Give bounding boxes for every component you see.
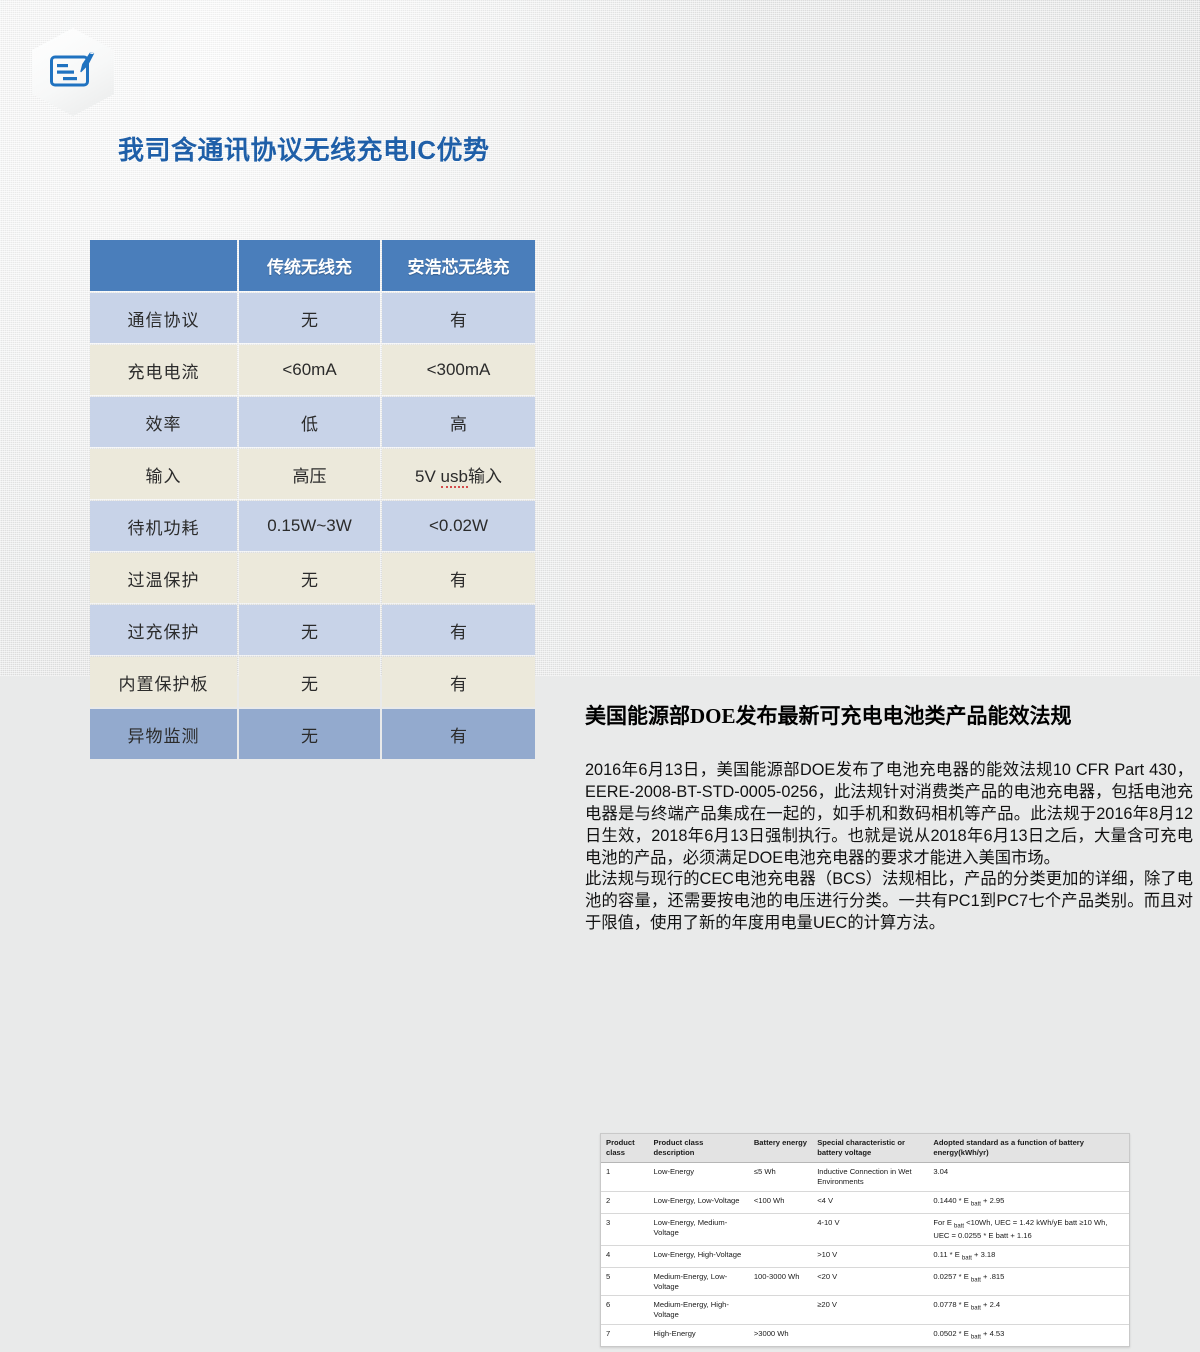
cell-anhaoxin: <0.02W [382, 501, 535, 551]
doe-col-special-char: Special characteristic or battery voltag… [812, 1134, 928, 1163]
row-label: 过充保护 [90, 605, 237, 655]
std-pre: 0.1440 * E [933, 1196, 971, 1205]
std-pre: 0.0257 * E [933, 1272, 971, 1281]
table-row: 充电电流 <60mA <300mA [90, 345, 535, 395]
page-title: 我司含通讯协议无线充电IC优势 [118, 130, 1200, 167]
cell-anhaoxin-prefix: 5V [415, 467, 441, 486]
doe-cell-spec: ≥20 V [812, 1296, 928, 1324]
std-post: + 3.18 [972, 1250, 995, 1259]
table-row: 通信协议 无 有 [90, 293, 535, 343]
cell-anhaoxin: <300mA [382, 345, 535, 395]
std-sub: batt [971, 1201, 981, 1207]
doe-cell-class: 1 [601, 1163, 649, 1191]
std-sub: batt [971, 1334, 981, 1340]
doe-cell-spec: 4-10 V [812, 1213, 928, 1245]
std-post: + .815 [981, 1272, 1004, 1281]
doe-cell-desc: Low-Energy, Medium-Voltage [649, 1213, 749, 1245]
row-label: 效率 [90, 397, 237, 447]
doe-cell-standard: 0.0257 * E batt + .815 [928, 1268, 1129, 1296]
table-row: 过温保护 无 有 [90, 553, 535, 603]
std-post: + 4.53 [981, 1329, 1004, 1338]
doe-cell-desc: Medium-Energy, High-Voltage [649, 1296, 749, 1324]
std-sub: batt [954, 1223, 964, 1229]
table-row: 过充保护 无 有 [90, 605, 535, 655]
doe-cell-energy: 100-3000 Wh [749, 1268, 812, 1296]
cell-traditional: 无 [239, 709, 380, 759]
doe-cell-desc: High-Energy [649, 1324, 749, 1346]
row-label: 内置保护板 [90, 657, 237, 707]
col-header-anhaoxin: 安浩芯无线充 [382, 240, 535, 291]
cell-traditional: 高压 [239, 449, 380, 499]
std-pre: For E [933, 1218, 954, 1227]
table-row: 内置保护板 无 有 [90, 657, 535, 707]
doe-row: 6 Medium-Energy, High-Voltage ≥20 V 0.07… [601, 1296, 1129, 1324]
std-sub: batt [971, 1278, 981, 1284]
article-heading: 美国能源部DOE发布最新可充电电池类产品能效法规 [585, 703, 1193, 729]
doe-cell-energy: <100 Wh [749, 1191, 812, 1213]
std-pre: 0.11 * E [933, 1250, 962, 1259]
doe-cell-energy [749, 1296, 812, 1324]
doe-col-adopted-standard: Adopted standard as a function of batter… [928, 1134, 1129, 1163]
doe-cell-class: 6 [601, 1296, 649, 1324]
cell-traditional: 无 [239, 605, 380, 655]
cell-traditional: 0.15W~3W [239, 501, 380, 551]
cell-anhaoxin: 高 [382, 397, 535, 447]
table-row: 输入 高压 5V usb输入 [90, 449, 535, 499]
document-pen-icon [49, 50, 97, 94]
doe-cell-desc: Medium-Energy, Low-Voltage [649, 1268, 749, 1296]
std-pre: 0.0778 * E [933, 1300, 971, 1309]
doe-row: 5 Medium-Energy, Low-Voltage 100-3000 Wh… [601, 1268, 1129, 1296]
col-header-blank [90, 240, 237, 291]
row-label: 通信协议 [90, 293, 237, 343]
cell-traditional: <60mA [239, 345, 380, 395]
std-post: + 2.4 [981, 1300, 1000, 1309]
doe-col-product-class: Product class [601, 1134, 649, 1163]
cell-anhaoxin: 有 [382, 605, 535, 655]
doe-cell-standard: 0.0502 * E batt + 4.53 [928, 1324, 1129, 1346]
doe-row: 4 Low-Energy, High-Voltage >10 V 0.11 * … [601, 1245, 1129, 1267]
doe-cell-spec [812, 1324, 928, 1346]
cell-anhaoxin-misspelled: usb [441, 467, 468, 488]
article-paragraph-2: 此法规与现行的CEC电池充电器（BCS）法规相比，产品的分类更加的详细，除了电池… [585, 869, 1193, 934]
cell-anhaoxin: 有 [382, 293, 535, 343]
doe-cell-class: 7 [601, 1324, 649, 1346]
doe-cell-spec: <4 V [812, 1191, 928, 1213]
doe-cell-class: 3 [601, 1213, 649, 1245]
doe-header-row: Product class Product class description … [601, 1134, 1129, 1163]
doe-row: 1 Low-Energy ≤5 Wh Inductive Connection … [601, 1163, 1129, 1191]
article-body: 2016年6月13日，美国能源部DOE发布了电池充电器的能效法规10 CFR P… [585, 760, 1193, 935]
std-sub: batt [971, 1306, 981, 1312]
doe-cell-standard: 3.04 [928, 1163, 1129, 1191]
doe-cell-standard: 0.1440 * E batt + 2.95 [928, 1191, 1129, 1213]
cell-anhaoxin: 有 [382, 657, 535, 707]
doe-cell-standard: For E batt <10Wh, UEC = 1.42 kWh/yE batt… [928, 1213, 1129, 1245]
doe-cell-standard: 0.0778 * E batt + 2.4 [928, 1296, 1129, 1324]
doe-col-description: Product class description [649, 1134, 749, 1163]
table-row: 异物监测 无 有 [90, 709, 535, 759]
row-label: 过温保护 [90, 553, 237, 603]
doe-row: 2 Low-Energy, Low-Voltage <100 Wh <4 V 0… [601, 1191, 1129, 1213]
article-paragraph-1: 2016年6月13日，美国能源部DOE发布了电池充电器的能效法规10 CFR P… [585, 760, 1193, 869]
row-label: 待机功耗 [90, 501, 237, 551]
std-pre: 0.0502 * E [933, 1329, 971, 1338]
doe-cell-energy [749, 1245, 812, 1267]
std-post: + 2.95 [981, 1196, 1004, 1205]
doe-cell-standard: 0.11 * E batt + 3.18 [928, 1245, 1129, 1267]
cell-anhaoxin: 5V usb输入 [382, 449, 535, 499]
doe-cell-desc: Low-Energy, Low-Voltage [649, 1191, 749, 1213]
col-header-traditional: 传统无线充 [239, 240, 380, 291]
cell-traditional: 无 [239, 293, 380, 343]
cell-traditional: 低 [239, 397, 380, 447]
cell-anhaoxin: 有 [382, 553, 535, 603]
doe-row: 3 Low-Energy, Medium-Voltage 4-10 V For … [601, 1213, 1129, 1245]
doe-cell-energy: >3000 Wh [749, 1324, 812, 1346]
doe-row: 7 High-Energy >3000 Wh 0.0502 * E batt +… [601, 1324, 1129, 1346]
row-label: 异物监测 [90, 709, 237, 759]
doe-cell-class: 2 [601, 1191, 649, 1213]
doe-cell-class: 5 [601, 1268, 649, 1296]
std-pre: 3.04 [933, 1167, 948, 1176]
doe-cell-spec: Inductive Connection in Wet Environments [812, 1163, 928, 1191]
doe-cell-energy [749, 1213, 812, 1245]
table-header-row: 传统无线充 安浩芯无线充 [90, 240, 535, 291]
cell-anhaoxin-suffix: 输入 [468, 467, 502, 486]
doe-cell-desc: Low-Energy, High-Voltage [649, 1245, 749, 1267]
title-badge [32, 28, 114, 116]
cell-anhaoxin: 有 [382, 709, 535, 759]
doe-cell-spec: >10 V [812, 1245, 928, 1267]
row-label: 输入 [90, 449, 237, 499]
doe-cell-class: 4 [601, 1245, 649, 1267]
doe-cell-energy: ≤5 Wh [749, 1163, 812, 1191]
doe-regulation-table: Product class Product class description … [600, 1133, 1130, 1347]
doe-cell-spec: <20 V [812, 1268, 928, 1296]
table-row: 效率 低 高 [90, 397, 535, 447]
comparison-table: 传统无线充 安浩芯无线充 通信协议 无 有 充电电流 <60mA <300mA … [88, 238, 537, 761]
std-sub: batt [962, 1255, 972, 1261]
cell-traditional: 无 [239, 553, 380, 603]
row-label: 充电电流 [90, 345, 237, 395]
cell-traditional: 无 [239, 657, 380, 707]
doe-col-battery-energy: Battery energy [749, 1134, 812, 1163]
doe-cell-desc: Low-Energy [649, 1163, 749, 1191]
table-row: 待机功耗 0.15W~3W <0.02W [90, 501, 535, 551]
slide-canvas: 我司含通讯协议无线充电IC优势 传统无线充 安浩芯无线充 通信协议 无 有 充电… [0, 0, 1200, 676]
